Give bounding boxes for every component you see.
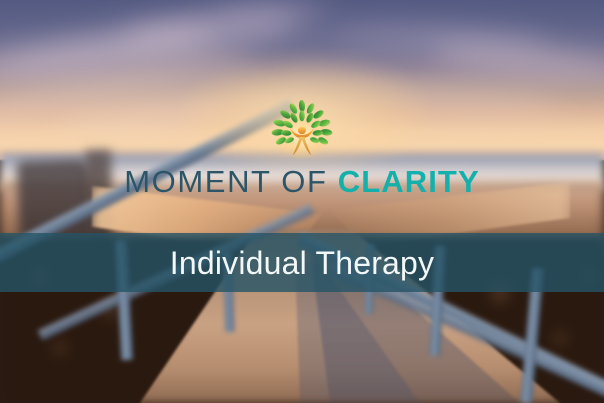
wordmark-clarity: CLARITY <box>338 164 480 199</box>
background-photo <box>0 0 604 403</box>
tree-person-logo-icon <box>269 96 335 162</box>
hero-banner-image: MOMENT OF CLARITY Individual Therapy <box>0 0 604 403</box>
page-title: Individual Therapy <box>170 247 435 279</box>
title-banner: Individual Therapy <box>0 233 604 292</box>
brand-wordmark: MOMENT OF CLARITY <box>0 166 604 197</box>
brand-logo: MOMENT OF CLARITY <box>0 96 604 197</box>
wordmark-moment-of: MOMENT OF <box>124 164 327 199</box>
